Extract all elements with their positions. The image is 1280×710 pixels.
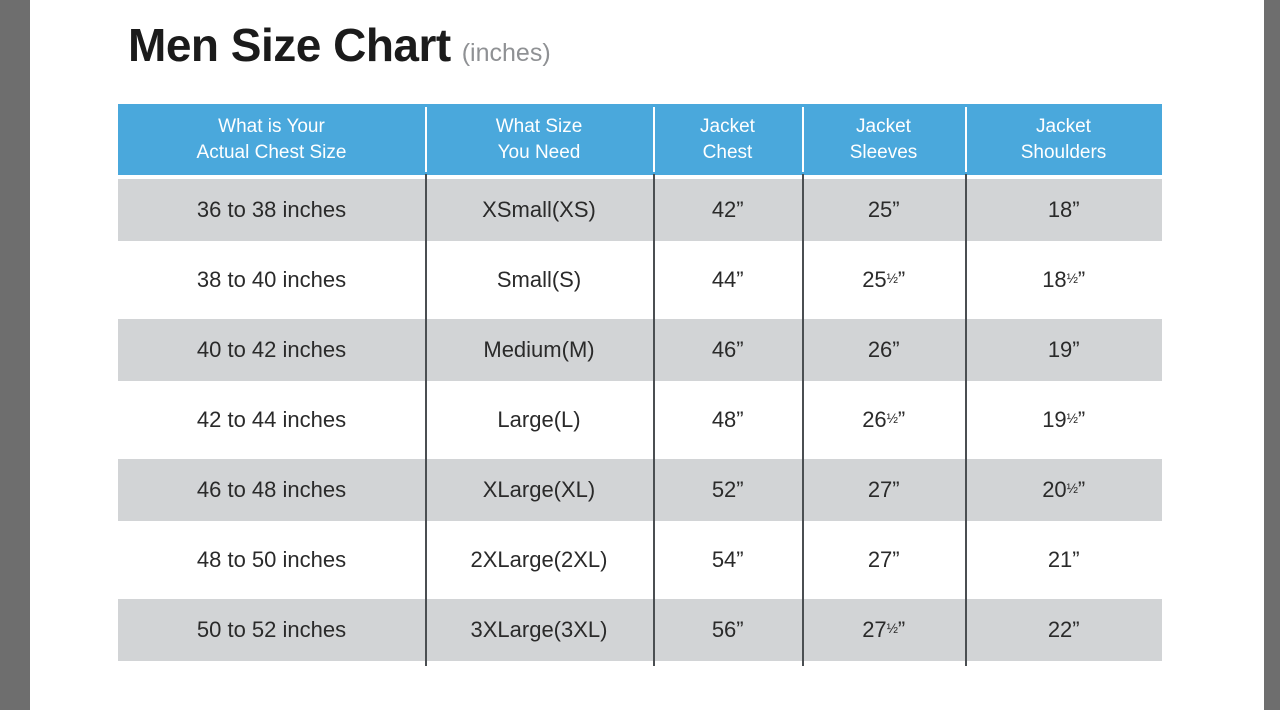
- cell-chest-range-text: 38 to 40 inches: [197, 267, 346, 293]
- measurement-whole: 19: [1042, 407, 1066, 432]
- inch-mark: ”: [1078, 477, 1085, 502]
- cell-size-name-text: XLarge(XL): [483, 477, 596, 503]
- table-row: 38 to 40 inchesSmall(S)44”25½”18½”: [118, 245, 1162, 315]
- inch-mark: ”: [736, 617, 743, 642]
- inch-mark: ”: [736, 547, 743, 572]
- measurement-whole: 26: [862, 407, 886, 432]
- page-title: Men Size Chart (inches): [128, 22, 551, 68]
- cell-jacket-sleeves-value: 26”: [868, 337, 899, 363]
- inch-mark: ”: [892, 477, 899, 502]
- measurement-whole: 25: [862, 267, 886, 292]
- inch-mark: ”: [736, 337, 743, 362]
- cell-jacket-sleeves-value: 27½”: [862, 617, 905, 643]
- measurement-whole: 19: [1048, 337, 1072, 362]
- cell-jacket-chest-value: 46”: [712, 337, 743, 363]
- inch-mark: ”: [898, 267, 905, 292]
- table-row: 50 to 52 inches3XLarge(3XL)56”27½”22”: [118, 595, 1162, 665]
- inch-mark: ”: [1072, 617, 1079, 642]
- inch-mark: ”: [892, 337, 899, 362]
- measurement-whole: 20: [1042, 477, 1066, 502]
- inch-mark: ”: [736, 407, 743, 432]
- inch-mark: ”: [736, 197, 743, 222]
- measurement-fraction: ½: [887, 271, 898, 286]
- cell-chest-range-text: 46 to 48 inches: [197, 477, 346, 503]
- cell-jacket-sleeves: 25”: [802, 175, 965, 245]
- column-header-line1: Jacket: [850, 114, 918, 139]
- measurement-whole: 21: [1048, 547, 1072, 572]
- column-header-size-needed: What Size You Need: [425, 104, 653, 175]
- inch-mark: ”: [892, 197, 899, 222]
- measurement-whole: 42: [712, 197, 736, 222]
- cell-jacket-chest-value: 52”: [712, 477, 743, 503]
- cell-jacket-sleeves-value: 27”: [868, 477, 899, 503]
- inch-mark: ”: [1078, 407, 1085, 432]
- column-header-line1: What is Your: [197, 114, 347, 139]
- measurement-whole: 26: [868, 337, 892, 362]
- measurement-fraction: ½: [1067, 271, 1078, 286]
- cell-chest-range-text: 36 to 38 inches: [197, 197, 346, 223]
- cell-jacket-chest-value: 48”: [712, 407, 743, 433]
- cell-jacket-shoulders: 20½”: [965, 455, 1162, 525]
- inch-mark: ”: [1072, 197, 1079, 222]
- table-row: 42 to 44 inchesLarge(L)48”26½”19½”: [118, 385, 1162, 455]
- measurement-whole: 56: [712, 617, 736, 642]
- measurement-whole: 52: [712, 477, 736, 502]
- cell-jacket-chest-value: 56”: [712, 617, 743, 643]
- measurement-whole: 46: [712, 337, 736, 362]
- cell-jacket-shoulders-value: 19”: [1048, 337, 1079, 363]
- table-header-row: What is Your Actual Chest Size What Size…: [118, 104, 1162, 175]
- cell-chest-range: 42 to 44 inches: [118, 385, 425, 455]
- cell-jacket-shoulders: 21”: [965, 525, 1162, 595]
- inch-mark: ”: [1072, 337, 1079, 362]
- measurement-whole: 18: [1048, 197, 1072, 222]
- cell-jacket-shoulders-value: 18½”: [1042, 267, 1085, 293]
- measurement-whole: 48: [712, 407, 736, 432]
- cell-jacket-chest: 46”: [653, 315, 802, 385]
- cell-jacket-sleeves-value: 25½”: [862, 267, 905, 293]
- cell-jacket-shoulders: 19½”: [965, 385, 1162, 455]
- cell-jacket-sleeves-value: 26½”: [862, 407, 905, 433]
- screenshot-stage: Men Size Chart (inches) What is Your Act…: [0, 0, 1280, 710]
- cell-size-name-text: Medium(M): [483, 337, 594, 363]
- cell-jacket-shoulders-value: 19½”: [1042, 407, 1085, 433]
- cell-jacket-chest: 48”: [653, 385, 802, 455]
- inch-mark: ”: [898, 617, 905, 642]
- cell-chest-range: 46 to 48 inches: [118, 455, 425, 525]
- measurement-whole: 25: [868, 197, 892, 222]
- cell-jacket-sleeves-value: 27”: [868, 547, 899, 573]
- column-header-line2: Sleeves: [850, 140, 918, 165]
- inch-mark: ”: [1072, 547, 1079, 572]
- cell-jacket-sleeves: 27½”: [802, 595, 965, 665]
- measurement-whole: 44: [712, 267, 736, 292]
- cell-jacket-sleeves-value: 25”: [868, 197, 899, 223]
- inch-mark: ”: [1078, 267, 1085, 292]
- cell-size-name: 2XLarge(2XL): [425, 525, 653, 595]
- inch-mark: ”: [736, 267, 743, 292]
- cell-jacket-chest: 52”: [653, 455, 802, 525]
- cell-jacket-sleeves: 27”: [802, 455, 965, 525]
- table-row: 40 to 42 inchesMedium(M)46”26”19”: [118, 315, 1162, 385]
- table-body: 36 to 38 inchesXSmall(XS)42”25”18”38 to …: [118, 175, 1162, 665]
- measurement-whole: 18: [1042, 267, 1066, 292]
- cell-jacket-sleeves: 26½”: [802, 385, 965, 455]
- column-header-line1: Jacket: [1021, 114, 1107, 139]
- cell-jacket-sleeves: 26”: [802, 315, 965, 385]
- cell-jacket-chest: 56”: [653, 595, 802, 665]
- column-header-line1: What Size: [496, 114, 583, 139]
- measurement-whole: 27: [868, 547, 892, 572]
- table-row: 48 to 50 inches2XLarge(2XL)54”27”21”: [118, 525, 1162, 595]
- cell-jacket-shoulders-value: 22”: [1048, 617, 1079, 643]
- column-header-chest-size: What is Your Actual Chest Size: [118, 104, 425, 175]
- measurement-fraction: ½: [887, 621, 898, 636]
- cell-jacket-shoulders: 18½”: [965, 245, 1162, 315]
- cell-size-name: 3XLarge(3XL): [425, 595, 653, 665]
- cell-jacket-chest: 42”: [653, 175, 802, 245]
- measurement-fraction: ½: [1067, 411, 1078, 426]
- measurement-whole: 54: [712, 547, 736, 572]
- cell-size-name-text: 2XLarge(2XL): [471, 547, 608, 573]
- table-row: 46 to 48 inchesXLarge(XL)52”27”20½”: [118, 455, 1162, 525]
- cell-jacket-shoulders: 19”: [965, 315, 1162, 385]
- cell-jacket-chest-value: 42”: [712, 197, 743, 223]
- cell-jacket-shoulders-value: 21”: [1048, 547, 1079, 573]
- cell-chest-range-text: 40 to 42 inches: [197, 337, 346, 363]
- cell-jacket-chest: 54”: [653, 525, 802, 595]
- cell-size-name: Medium(M): [425, 315, 653, 385]
- measurement-fraction: ½: [887, 411, 898, 426]
- measurement-whole: 27: [868, 477, 892, 502]
- cell-chest-range-text: 50 to 52 inches: [197, 617, 346, 643]
- measurement-fraction: ½: [1067, 481, 1078, 496]
- letterbox-left: [0, 0, 30, 710]
- page-title-main: Men Size Chart: [128, 22, 451, 68]
- size-chart-table: What is Your Actual Chest Size What Size…: [118, 104, 1162, 665]
- cell-jacket-sleeves: 25½”: [802, 245, 965, 315]
- cell-chest-range-text: 48 to 50 inches: [197, 547, 346, 573]
- inch-mark: ”: [736, 477, 743, 502]
- cell-size-name-text: Small(S): [497, 267, 581, 293]
- size-chart-canvas: Men Size Chart (inches) What is Your Act…: [30, 0, 1264, 710]
- inch-mark: ”: [898, 407, 905, 432]
- cell-size-name: XLarge(XL): [425, 455, 653, 525]
- column-header-jacket-shoulders: Jacket Shoulders: [965, 104, 1162, 175]
- cell-jacket-shoulders: 18”: [965, 175, 1162, 245]
- measurement-whole: 27: [862, 617, 886, 642]
- measurement-whole: 22: [1048, 617, 1072, 642]
- column-header-jacket-sleeves: Jacket Sleeves: [802, 104, 965, 175]
- cell-chest-range: 40 to 42 inches: [118, 315, 425, 385]
- cell-size-name-text: 3XLarge(3XL): [471, 617, 608, 643]
- cell-jacket-chest: 44”: [653, 245, 802, 315]
- column-header-line1: Jacket: [700, 114, 755, 139]
- page-title-unit: (inches): [462, 41, 551, 66]
- cell-jacket-shoulders: 22”: [965, 595, 1162, 665]
- cell-size-name: XSmall(XS): [425, 175, 653, 245]
- cell-chest-range: 48 to 50 inches: [118, 525, 425, 595]
- cell-size-name: Large(L): [425, 385, 653, 455]
- cell-jacket-shoulders-value: 18”: [1048, 197, 1079, 223]
- cell-jacket-chest-value: 54”: [712, 547, 743, 573]
- inch-mark: ”: [892, 547, 899, 572]
- letterbox-right: [1264, 0, 1280, 710]
- column-header-jacket-chest: Jacket Chest: [653, 104, 802, 175]
- cell-chest-range-text: 42 to 44 inches: [197, 407, 346, 433]
- column-header-line2: Actual Chest Size: [197, 140, 347, 165]
- cell-size-name: Small(S): [425, 245, 653, 315]
- cell-size-name-text: XSmall(XS): [482, 197, 596, 223]
- table-row: 36 to 38 inchesXSmall(XS)42”25”18”: [118, 175, 1162, 245]
- cell-chest-range: 36 to 38 inches: [118, 175, 425, 245]
- cell-jacket-chest-value: 44”: [712, 267, 743, 293]
- cell-chest-range: 50 to 52 inches: [118, 595, 425, 665]
- cell-chest-range: 38 to 40 inches: [118, 245, 425, 315]
- cell-jacket-sleeves: 27”: [802, 525, 965, 595]
- cell-size-name-text: Large(L): [497, 407, 580, 433]
- cell-jacket-shoulders-value: 20½”: [1042, 477, 1085, 503]
- column-header-line2: Chest: [700, 140, 755, 165]
- column-header-line2: You Need: [496, 140, 583, 165]
- column-header-line2: Shoulders: [1021, 140, 1107, 165]
